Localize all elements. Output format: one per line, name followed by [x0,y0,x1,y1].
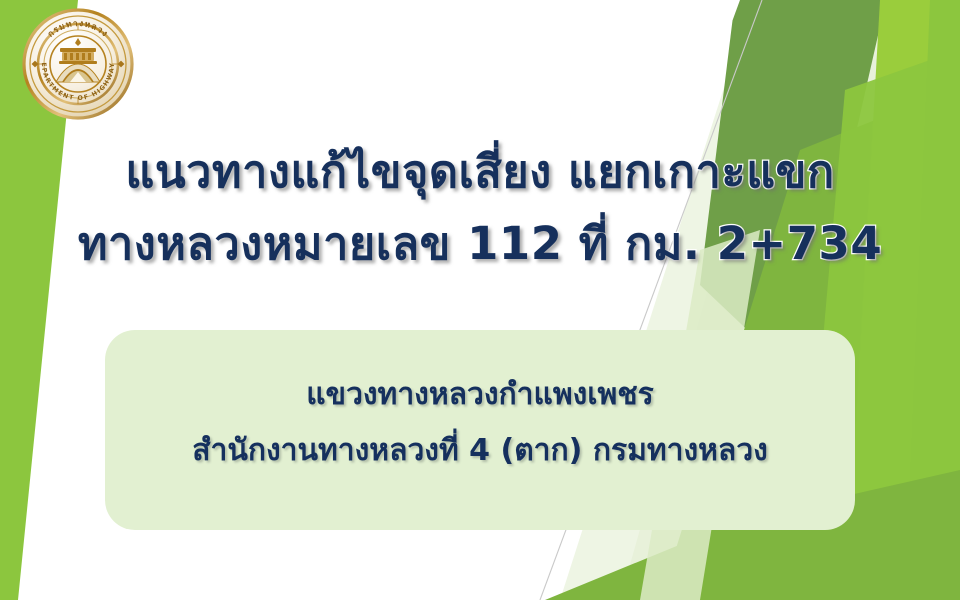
subtitle-line-2: สำนักงานทางหลวงที่ 4 (ตาก) กรมทางหลวง [192,423,768,479]
right-bright-column [905,0,960,600]
presentation-slide: กรมทางหลวง DEPARTMENT OF HIGHWAYS แนวทาง… [0,0,960,600]
subtitle-panel: แขวงทางหลวงกำแพงเพชร สำนักงานทางหลวงที่ … [105,330,855,530]
right-lime-column [846,0,960,600]
subtitle-line-1: แขวงทางหลวงกำแพงเพชร [306,367,654,423]
title-block: แนวทางแก้ไขจุดเสี่ยง แยกเกาะแขก ทางหลวงห… [0,136,960,280]
title-line-2: ทางหลวงหมายเลข 112 ที่ กม. 2+734 [0,208,960,280]
title-line-1: แนวทางแก้ไขจุดเสี่ยง แยกเกาะแขก [0,136,960,208]
department-of-highways-seal-icon: กรมทางหลวง DEPARTMENT OF HIGHWAYS [22,8,134,120]
